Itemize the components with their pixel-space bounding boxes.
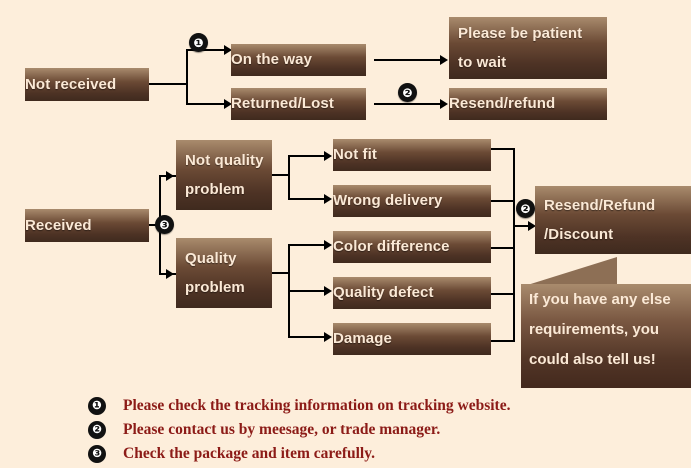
connector-color-difference-merge [491,247,515,249]
connector-merge-bus [513,148,515,342]
node-not-fit-label: Not fit [333,147,491,163]
badge-2-right-label: ❷ [520,203,530,215]
node-not-received-label: Not received [25,77,149,93]
connector-to-returned-lost [186,103,226,105]
node-quality-defect-label: Quality defect [333,285,491,301]
node-resend-refund-discount: Resend/Refund /Discount [535,186,691,254]
legend: ❶ Please check the tracking information … [88,394,688,466]
node-quality-problem: Quality problem [176,238,272,308]
page-title [0,0,691,10]
connector-not-received-bus [186,49,188,105]
connector-on-the-way-to-patient [374,59,442,61]
legend-item: ❷ Please contact us by meesage, or trade… [88,418,688,442]
connector-not-fit-merge [491,148,515,150]
node-resend-refund: Resend/refund [449,88,607,120]
connector-not-quality-bus [288,155,290,200]
node-received-label: Received [25,218,149,234]
node-not-received: Not received [25,68,149,101]
node-on-the-way-label: On the way [231,52,366,68]
node-returned-lost: Returned/Lost [231,88,366,120]
legend-item: ❸ Check the package and item carefully. [88,442,688,466]
node-color-difference: Color difference [333,231,491,263]
connector-quality-defect-merge [491,293,515,295]
callout-line2: requirements, you [529,322,691,337]
node-resend-refund-discount-line1: Resend/Refund [544,197,691,214]
connector-to-quality-defect [288,290,326,292]
legend-num-2: ❷ [88,421,106,439]
flowchart-canvas: Not received ❶ On the way Returned/Lost … [0,0,691,468]
node-received: Received [25,209,149,242]
node-returned-lost-label: Returned/Lost [231,96,366,112]
connector-to-color-difference [288,244,326,246]
badge-2-top: ❷ [398,83,417,102]
node-quality-problem-line1: Quality [185,250,272,267]
arrow-returned-to-resend [440,99,448,109]
node-resend-refund-discount-line2: /Discount [544,226,691,243]
connector-to-wrong-delivery [288,198,326,200]
callout-line1: If you have any else [529,292,691,307]
arrow-to-not-fit [324,151,332,161]
badge-1-top-label: ❶ [193,37,203,49]
badge-3-label: ❸ [159,219,169,231]
connector-to-damage [288,336,326,338]
node-resend-refund-label: Resend/refund [449,96,607,112]
callout-tail [521,257,617,287]
connector-damage-merge [491,340,515,342]
legend-num-3: ❸ [88,445,106,463]
node-color-difference-label: Color difference [333,239,491,255]
node-not-quality-problem: Not quality problem [176,140,272,210]
node-wrong-delivery-label: Wrong delivery [333,193,491,209]
node-wrong-delivery: Wrong delivery [333,185,491,217]
connector-wrong-delivery-merge [491,200,515,202]
legend-text-1: Please check the tracking information on… [123,397,510,415]
arrow-to-wrong-delivery [324,194,332,204]
badge-3: ❸ [155,215,174,234]
arrow-to-quality-defect [324,286,332,296]
node-please-be-patient-line2: to wait [458,54,607,71]
node-quality-defect: Quality defect [333,277,491,309]
legend-text-3: Check the package and item carefully. [123,445,375,463]
badge-2-right: ❷ [516,199,535,218]
arrow-on-the-way-to-patient [440,55,448,65]
callout-line3: could also tell us! [529,352,691,367]
connector-returned-to-resend [374,103,442,105]
legend-num-1: ❶ [88,397,106,415]
legend-item: ❶ Please check the tracking information … [88,394,688,418]
node-not-quality-problem-line2: problem [185,181,272,198]
callout-extra-requirements: If you have any else requirements, you c… [521,284,691,388]
node-quality-problem-line2: problem [185,279,272,296]
node-damage: Damage [333,323,491,355]
arrow-to-color-difference [324,240,332,250]
node-please-be-patient-line1: Please be patient [458,25,607,42]
node-on-the-way: On the way [231,44,366,76]
node-not-fit: Not fit [333,139,491,171]
connector-to-not-fit [288,155,326,157]
arrow-to-damage [324,332,332,342]
arrow-to-quality [166,269,174,279]
badge-1-top: ❶ [189,33,208,52]
node-not-quality-problem-line1: Not quality [185,152,272,169]
node-please-be-patient: Please be patient to wait [449,17,607,79]
node-damage-label: Damage [333,331,491,347]
connector-not-received-stem [149,83,188,85]
badge-2-top-label: ❷ [402,87,412,99]
legend-text-2: Please contact us by meesage, or trade m… [123,421,440,439]
arrow-to-not-quality [166,171,174,181]
